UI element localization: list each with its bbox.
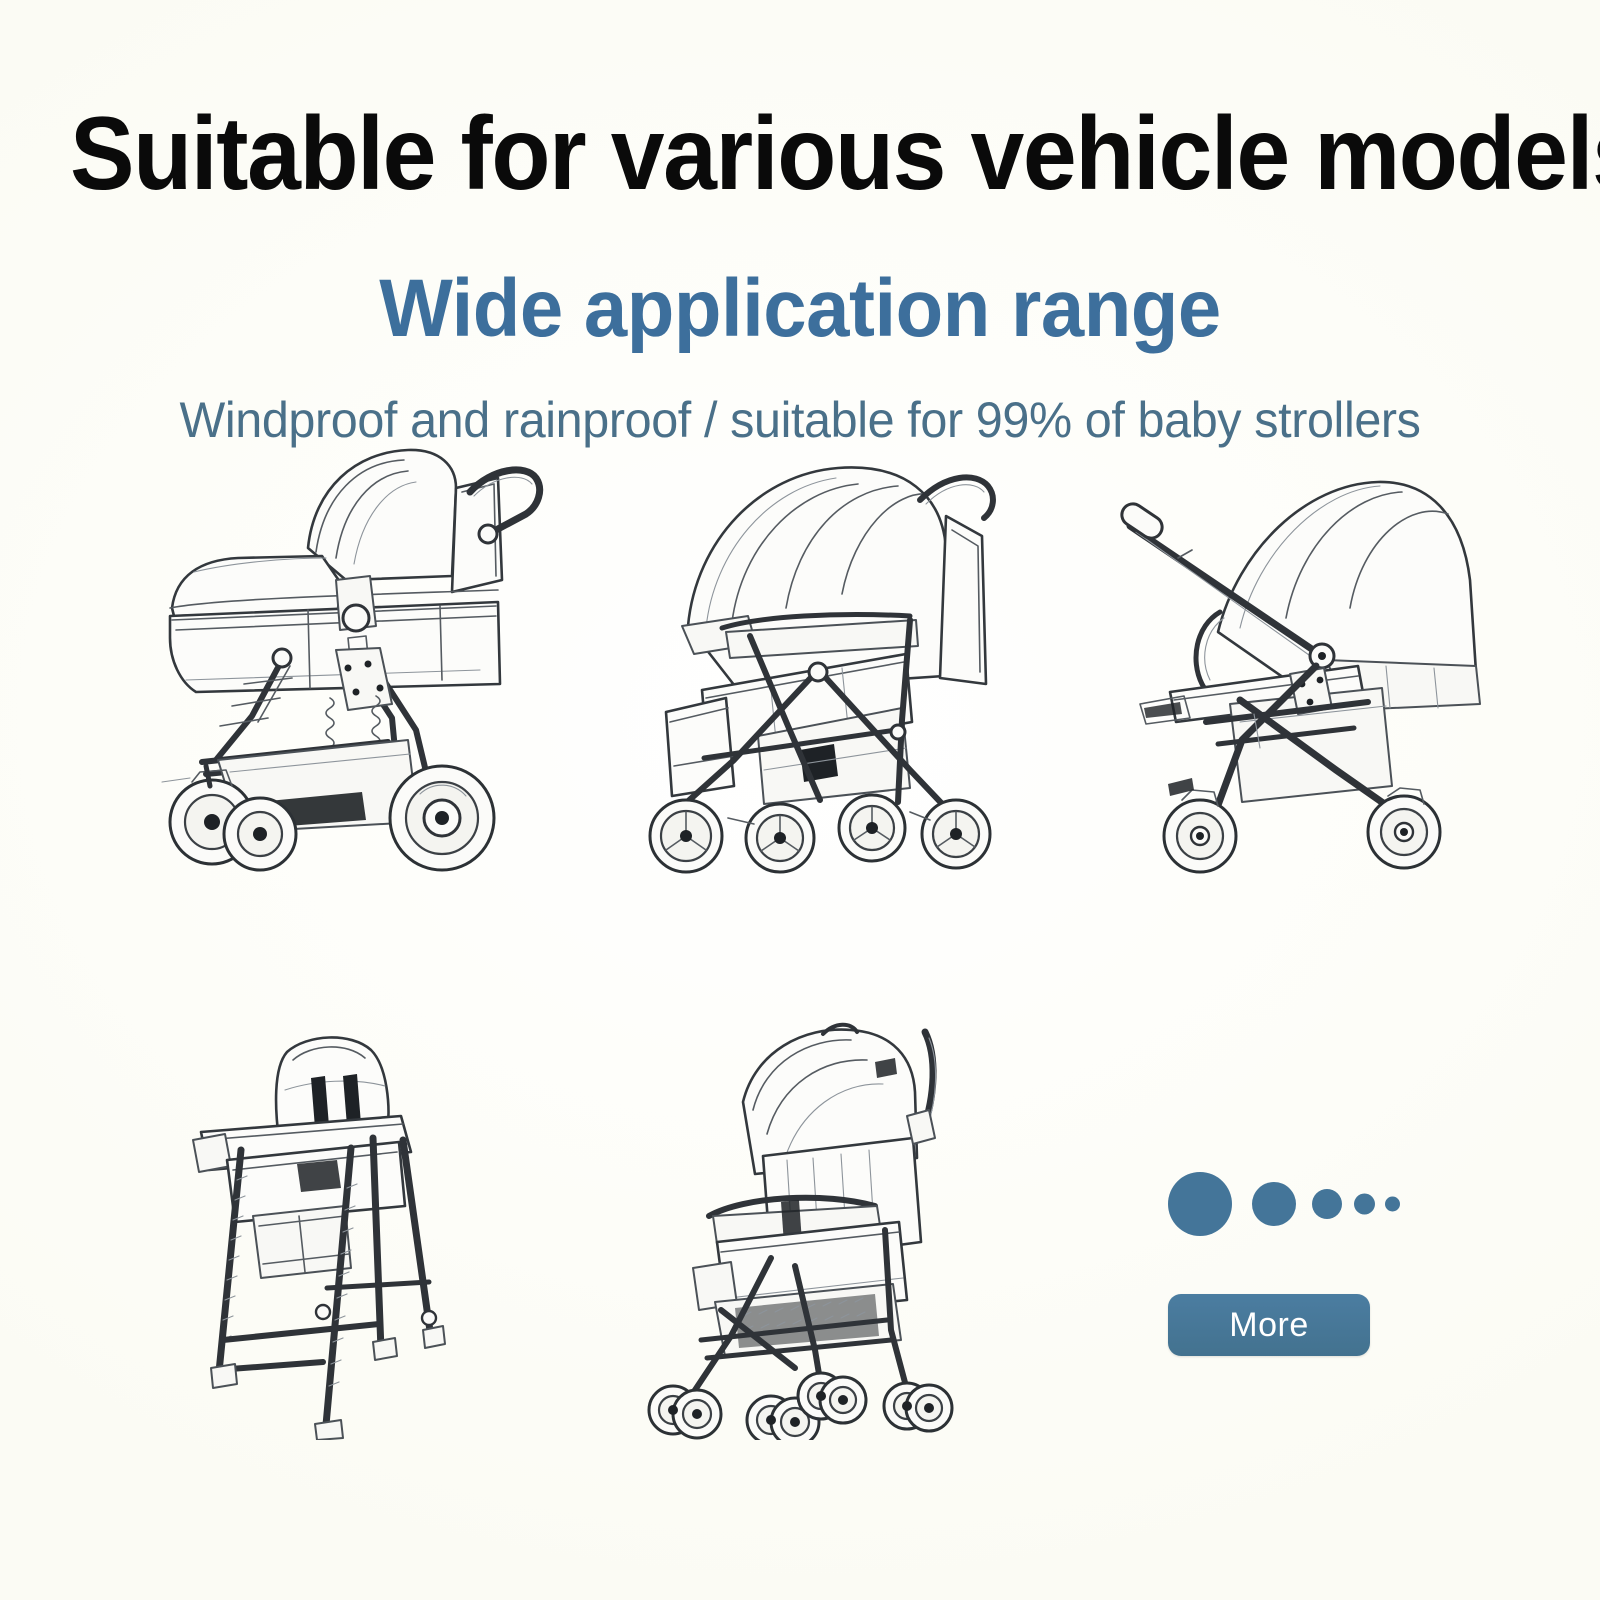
product-image-high-chair <box>175 1020 475 1440</box>
dot-2[interactable] <box>1252 1182 1296 1226</box>
promo-banner: Suitable for various vehicle models Wide… <box>0 0 1600 1600</box>
product-image-stroller-umbrella <box>635 1010 965 1440</box>
more-button[interactable]: More <box>1168 1294 1370 1356</box>
dot-1[interactable] <box>1168 1172 1232 1236</box>
product-image-stroller-reclining <box>610 440 1010 880</box>
dot-3[interactable] <box>1312 1189 1342 1219</box>
dot-5[interactable] <box>1385 1197 1400 1212</box>
size-dots-indicator <box>1168 1168 1400 1240</box>
dot-4[interactable] <box>1354 1194 1375 1215</box>
product-image-stroller-reversible <box>1110 460 1490 880</box>
subtitle: Wide application range <box>40 264 1560 354</box>
product-image-stroller-bassinet <box>140 430 560 880</box>
page-title: Suitable for various vehicle models <box>70 98 1446 210</box>
